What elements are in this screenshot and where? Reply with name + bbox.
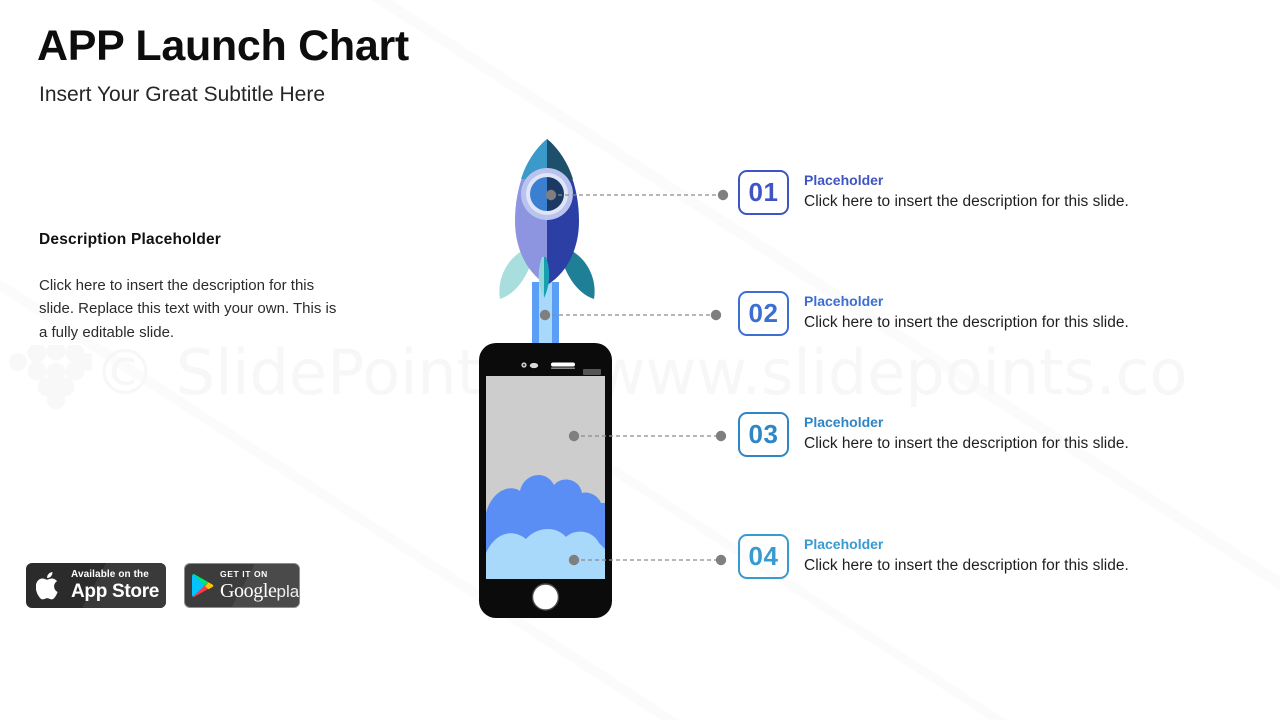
item-number: 03	[749, 419, 779, 450]
description-heading: Description Placeholder	[39, 231, 339, 249]
list-item[interactable]: 01 Placeholder Click here to insert the …	[738, 170, 1129, 215]
google-play-badge[interactable]: GET IT ON Googleplay	[184, 563, 300, 608]
item-text: Placeholder Click here to insert the des…	[804, 412, 1129, 454]
item-heading: Placeholder	[804, 294, 1129, 309]
item-heading: Placeholder	[804, 415, 1129, 430]
item-description: Click here to insert the description for…	[804, 193, 1129, 212]
item-text: Placeholder Click here to insert the des…	[804, 291, 1129, 333]
watermark-text: © SlidePoints® www.slidepoints.co	[94, 336, 1188, 409]
store-badges: Available on the App Store GET IT ON Goo…	[26, 563, 300, 608]
watermark-layer: © SlidePoints® www.slidepoints.co	[0, 0, 1280, 720]
list-item[interactable]: 02 Placeholder Click here to insert the …	[738, 291, 1129, 336]
item-description: Click here to insert the description for…	[804, 435, 1129, 454]
description-body: Click here to insert the description for…	[39, 274, 339, 344]
google-play-triangle-icon	[192, 573, 215, 598]
play-word: play	[276, 582, 300, 601]
app-store-large-label: App Store	[71, 582, 159, 601]
item-number: 01	[749, 177, 779, 208]
apple-logo-icon	[36, 570, 62, 601]
smartphone-icon	[479, 343, 612, 618]
item-number: 04	[749, 541, 779, 572]
google-play-large-label: Googleplay	[220, 581, 300, 601]
item-heading: Placeholder	[804, 173, 1129, 188]
item-number-box: 02	[738, 291, 789, 336]
item-number-box: 03	[738, 412, 789, 457]
rocket-icon	[487, 133, 607, 308]
item-text: Placeholder Click here to insert the des…	[804, 170, 1129, 212]
google-word: Google	[220, 580, 276, 602]
google-play-small-label: GET IT ON	[220, 570, 300, 579]
slide-canvas: © SlidePoints® www.slidepoints.co APP La…	[0, 0, 1280, 720]
item-text: Placeholder Click here to insert the des…	[804, 534, 1129, 576]
item-description: Click here to insert the description for…	[804, 557, 1129, 576]
item-heading: Placeholder	[804, 537, 1129, 552]
description-block: Description Placeholder Click here to in…	[39, 231, 339, 344]
page-subtitle: Insert Your Great Subtitle Here	[39, 83, 325, 107]
item-number-box: 01	[738, 170, 789, 215]
google-play-badge-text: GET IT ON Googleplay	[220, 570, 300, 602]
page-title: APP Launch Chart	[37, 22, 409, 71]
app-store-badge[interactable]: Available on the App Store	[26, 563, 166, 608]
app-store-small-label: Available on the	[71, 570, 159, 580]
app-store-badge-text: Available on the App Store	[71, 570, 159, 601]
item-description: Click here to insert the description for…	[804, 314, 1129, 333]
slidepoints-flower-logo-icon	[6, 345, 92, 409]
list-item[interactable]: 03 Placeholder Click here to insert the …	[738, 412, 1129, 457]
list-item[interactable]: 04 Placeholder Click here to insert the …	[738, 534, 1129, 579]
watermark-diagonal-streak	[324, 0, 1280, 720]
item-number-box: 04	[738, 534, 789, 579]
item-number: 02	[749, 298, 779, 329]
connector-lines	[0, 0, 1280, 720]
